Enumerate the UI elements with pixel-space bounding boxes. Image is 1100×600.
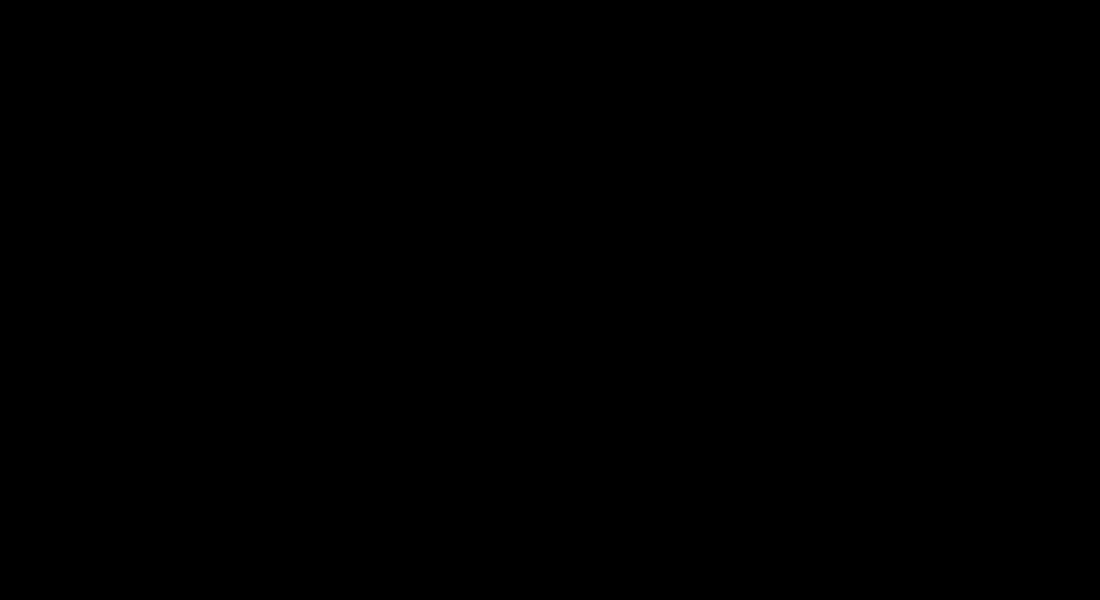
robinson-map-svg [0,0,1100,600]
map-figure [0,0,1100,600]
